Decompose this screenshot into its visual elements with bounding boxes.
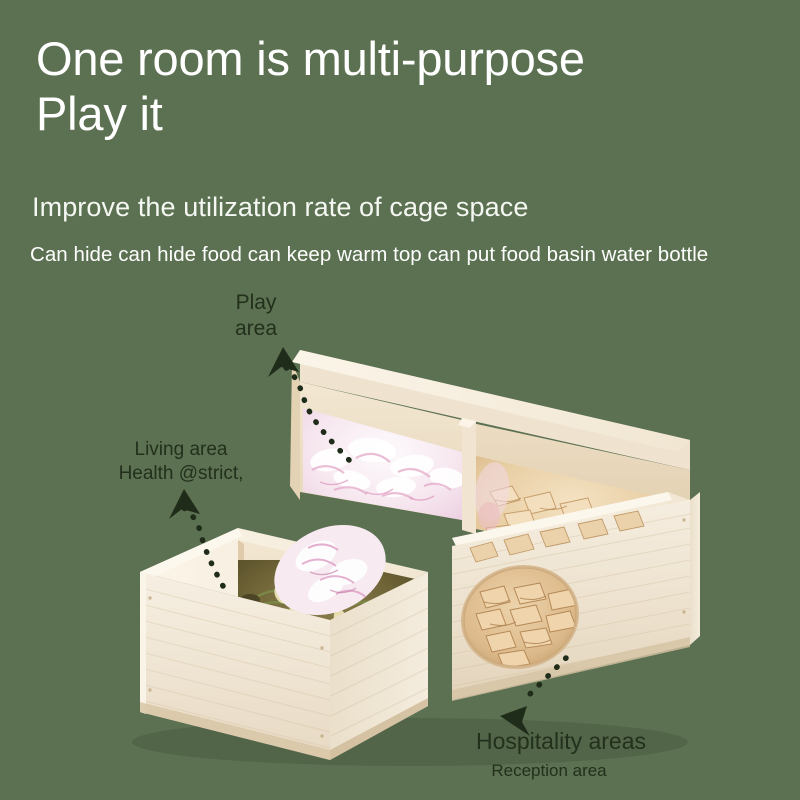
callout-label-hospitality-areas: Hospitality areas: [452, 727, 670, 756]
description-text: Can hide can hide food can keep warm top…: [30, 243, 708, 267]
callout-label-living-area: Living area Health @strict,: [96, 438, 266, 486]
subtitle: Improve the utilization rate of cage spa…: [32, 192, 528, 223]
callout-label-play-area: Play area: [196, 290, 316, 343]
callout-label-reception-area: Reception area: [440, 760, 658, 781]
product-banner: One room is multi-purpose Play it Improv…: [0, 0, 800, 800]
page-title: One room is multi-purpose Play it: [36, 32, 756, 141]
